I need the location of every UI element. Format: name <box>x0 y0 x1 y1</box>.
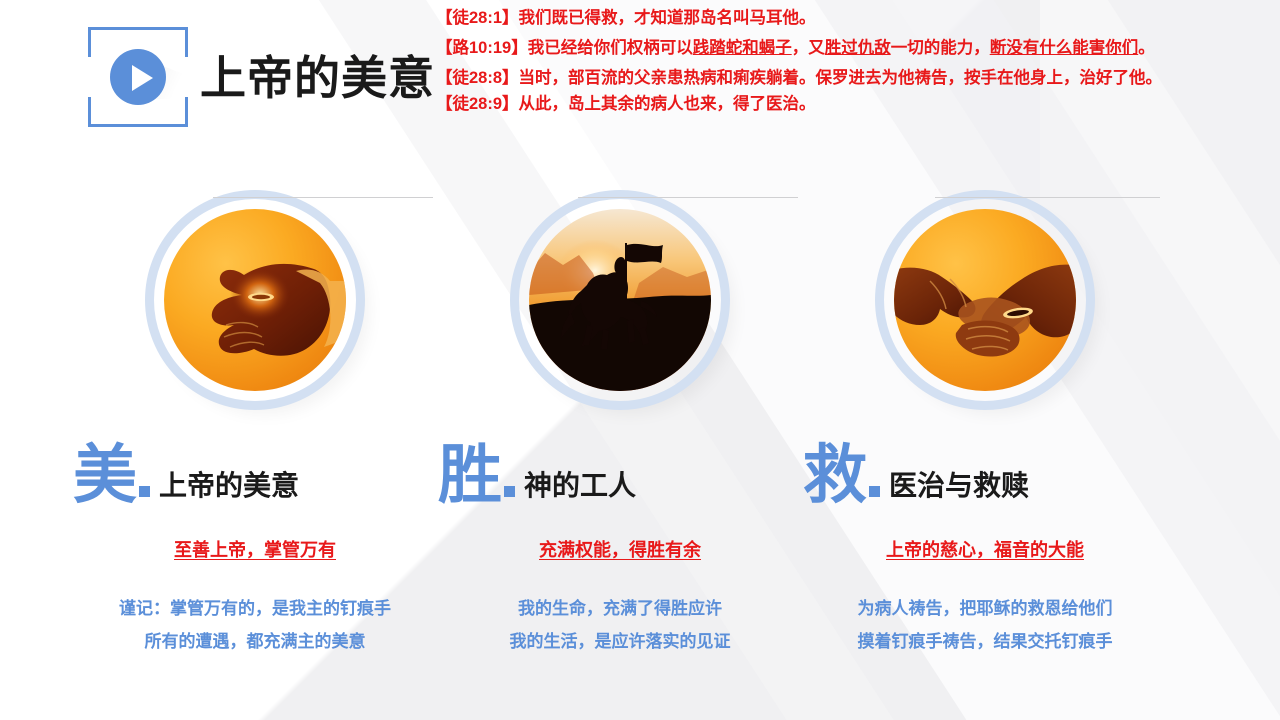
column-subtitle: 上帝的美意 <box>159 472 299 506</box>
logo <box>88 27 188 127</box>
emblem <box>510 190 730 410</box>
emblem-ring <box>145 190 365 410</box>
big-character: 救 <box>803 445 867 506</box>
column-body: 我的生命，充满了得胜应许 我的生活，是应许落实的见证 <box>420 592 820 658</box>
column-salvation: 救 医治与救赎 上帝的慈心，福音的大能 为病人祷告，把耶稣的救恩给他们 摸着钉痕… <box>785 150 1185 658</box>
emblem-ring <box>510 190 730 410</box>
emblem-ring <box>875 190 1095 410</box>
body-line: 为病人祷告，把耶稣的救恩给他们 <box>785 592 1185 625</box>
body-line: 我的生命，充满了得胜应许 <box>420 592 820 625</box>
emblem <box>875 190 1095 410</box>
scripture-verse: 【徒28:8】当时，部百流的父亲患热病和痢疾躺着。保罗进去为他祷告，按手在他身上… <box>436 66 1276 91</box>
headline: 美 上帝的美意 <box>55 428 455 506</box>
emblem <box>145 190 365 410</box>
column-tagline: 至善上帝，掌管万有 <box>55 536 455 562</box>
slide-header: 上帝的美意 【徒28:1】我们既已得救，才知道那岛名叫马耳他。 【路10:19】… <box>0 0 1280 140</box>
verse-segment: 。 <box>1138 39 1155 57</box>
scripture-list: 【徒28:1】我们既已得救，才知道那岛名叫马耳他。 【路10:19】我已经给你们… <box>436 6 1276 118</box>
headline: 救 医治与救赎 <box>785 428 1185 506</box>
column-tagline: 充满权能，得胜有余 <box>420 536 820 562</box>
column-subtitle: 神的工人 <box>524 472 636 506</box>
square-dot-icon <box>869 486 880 497</box>
play-triangle-icon <box>132 65 153 91</box>
body-line: 我的生活，是应许落实的见证 <box>420 625 820 658</box>
column-body: 为病人祷告，把耶稣的救恩给他们 摸着钉痕手祷告，结果交托钉痕手 <box>785 592 1185 658</box>
verse-underlined-segment: 胜过仇敌 <box>825 39 891 57</box>
scripture-verse: 【徒28:1】我们既已得救，才知道那岛名叫马耳他。 <box>436 6 1276 31</box>
body-line: 摸着钉痕手祷告，结果交托钉痕手 <box>785 625 1185 658</box>
body-line: 所有的遭遇，都充满主的美意 <box>55 625 455 658</box>
verse-underlined-segment: 断没有什么能害你们 <box>990 39 1139 57</box>
square-dot-icon <box>504 486 515 497</box>
headline: 胜 神的工人 <box>420 428 820 506</box>
divider-line <box>213 197 433 198</box>
scripture-verse: 【路10:19】我已经给你们权柄可以践踏蛇和蝎子，又胜过仇敌一切的能力，断没有什… <box>436 36 1276 61</box>
column-tagline: 上帝的慈心，福音的大能 <box>785 536 1185 562</box>
verse-segment: ，又 <box>792 39 825 57</box>
verse-underlined-segment: 践踏蛇和蝎子 <box>693 39 792 57</box>
big-character: 胜 <box>438 445 502 506</box>
column-beauty: 美 上帝的美意 至善上帝，掌管万有 谨记：掌管万有的，是我主的钉痕手 所有的遭遇… <box>55 150 455 658</box>
page-title: 上帝的美意 <box>200 42 435 108</box>
column-body: 谨记：掌管万有的，是我主的钉痕手 所有的遭遇，都充满主的美意 <box>55 592 455 658</box>
verse-segment: 一切的能力， <box>891 39 990 57</box>
column-subtitle: 医治与救赎 <box>889 472 1029 506</box>
column-victory: 胜 神的工人 充满权能，得胜有余 我的生命，充满了得胜应许 我的生活，是应许落实… <box>420 150 820 658</box>
scripture-verse: 【徒28:9】从此，岛上其余的病人也来，得了医治。 <box>436 92 1276 117</box>
content-columns: 美 上帝的美意 至善上帝，掌管万有 谨记：掌管万有的，是我主的钉痕手 所有的遭遇… <box>0 150 1280 720</box>
divider-line <box>935 197 1160 198</box>
divider-line <box>578 197 798 198</box>
square-dot-icon <box>139 486 150 497</box>
body-line: 谨记：掌管万有的，是我主的钉痕手 <box>55 592 455 625</box>
big-character: 美 <box>73 445 137 506</box>
verse-segment: 【路10:19】我已经给你们权柄可以 <box>436 39 693 57</box>
